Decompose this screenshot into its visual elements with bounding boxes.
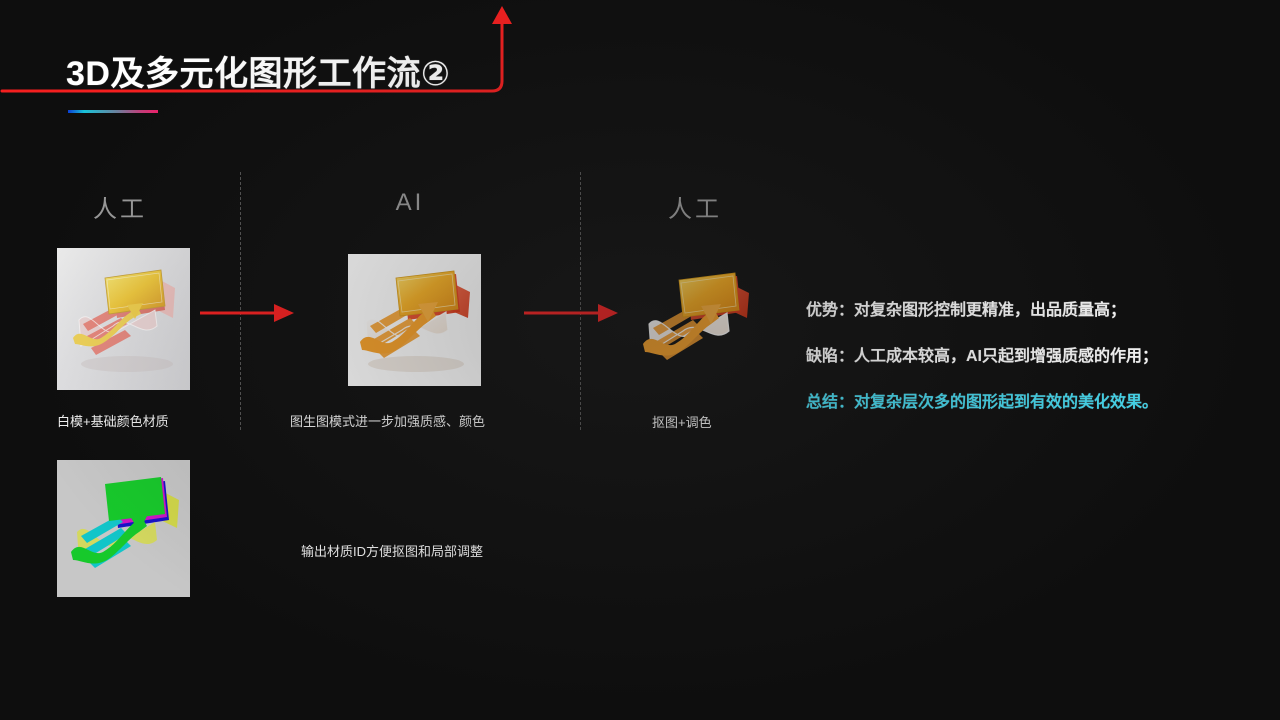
notes-block: 优势：对复杂图形控制更精准，出品质量高； 缺陷：人工成本较高，AI只起到增强质感… <box>806 303 1276 411</box>
ai-render-illustration <box>348 254 481 386</box>
note-advantage: 优势：对复杂图形控制更精准，出品质量高； <box>806 303 1276 319</box>
arrow-right-icon-1 <box>200 300 296 326</box>
step-image-cutout <box>635 258 759 386</box>
arrow-right-icon-2 <box>524 300 620 326</box>
title-underline-gradient <box>68 110 158 113</box>
step-image-ai-render <box>348 254 481 386</box>
white-model-illustration <box>57 248 190 390</box>
note-drawback: 缺陷：人工成本较高，AI只起到增强质感的作用； <box>806 349 1276 365</box>
step-caption-material-id: 输出材质ID方便抠图和局部调整 <box>301 541 483 560</box>
material-id-illustration <box>57 460 190 597</box>
slide-canvas: 3D及多元化图形工作流② 人工 AI 人工 <box>0 0 1280 720</box>
page-title: 3D及多元化图形工作流② <box>66 46 450 95</box>
column-header-human-1: 人工 <box>0 189 240 224</box>
cutout-illustration <box>635 258 759 386</box>
step-caption-white-model: 白模+基础颜色材质 <box>57 411 169 430</box>
column-header-ai: AI <box>240 189 580 217</box>
note-summary: 总结：对复杂层次多的图形起到有效的美化效果。 <box>806 395 1276 411</box>
step-caption-cutout: 抠图+调色 <box>652 412 712 431</box>
step-image-material-id <box>57 460 190 597</box>
step-caption-ai-render: 图生图模式进一步加强质感、颜色 <box>290 411 485 430</box>
column-header-human-2: 人工 <box>580 189 810 224</box>
step-image-white-model <box>57 248 190 390</box>
